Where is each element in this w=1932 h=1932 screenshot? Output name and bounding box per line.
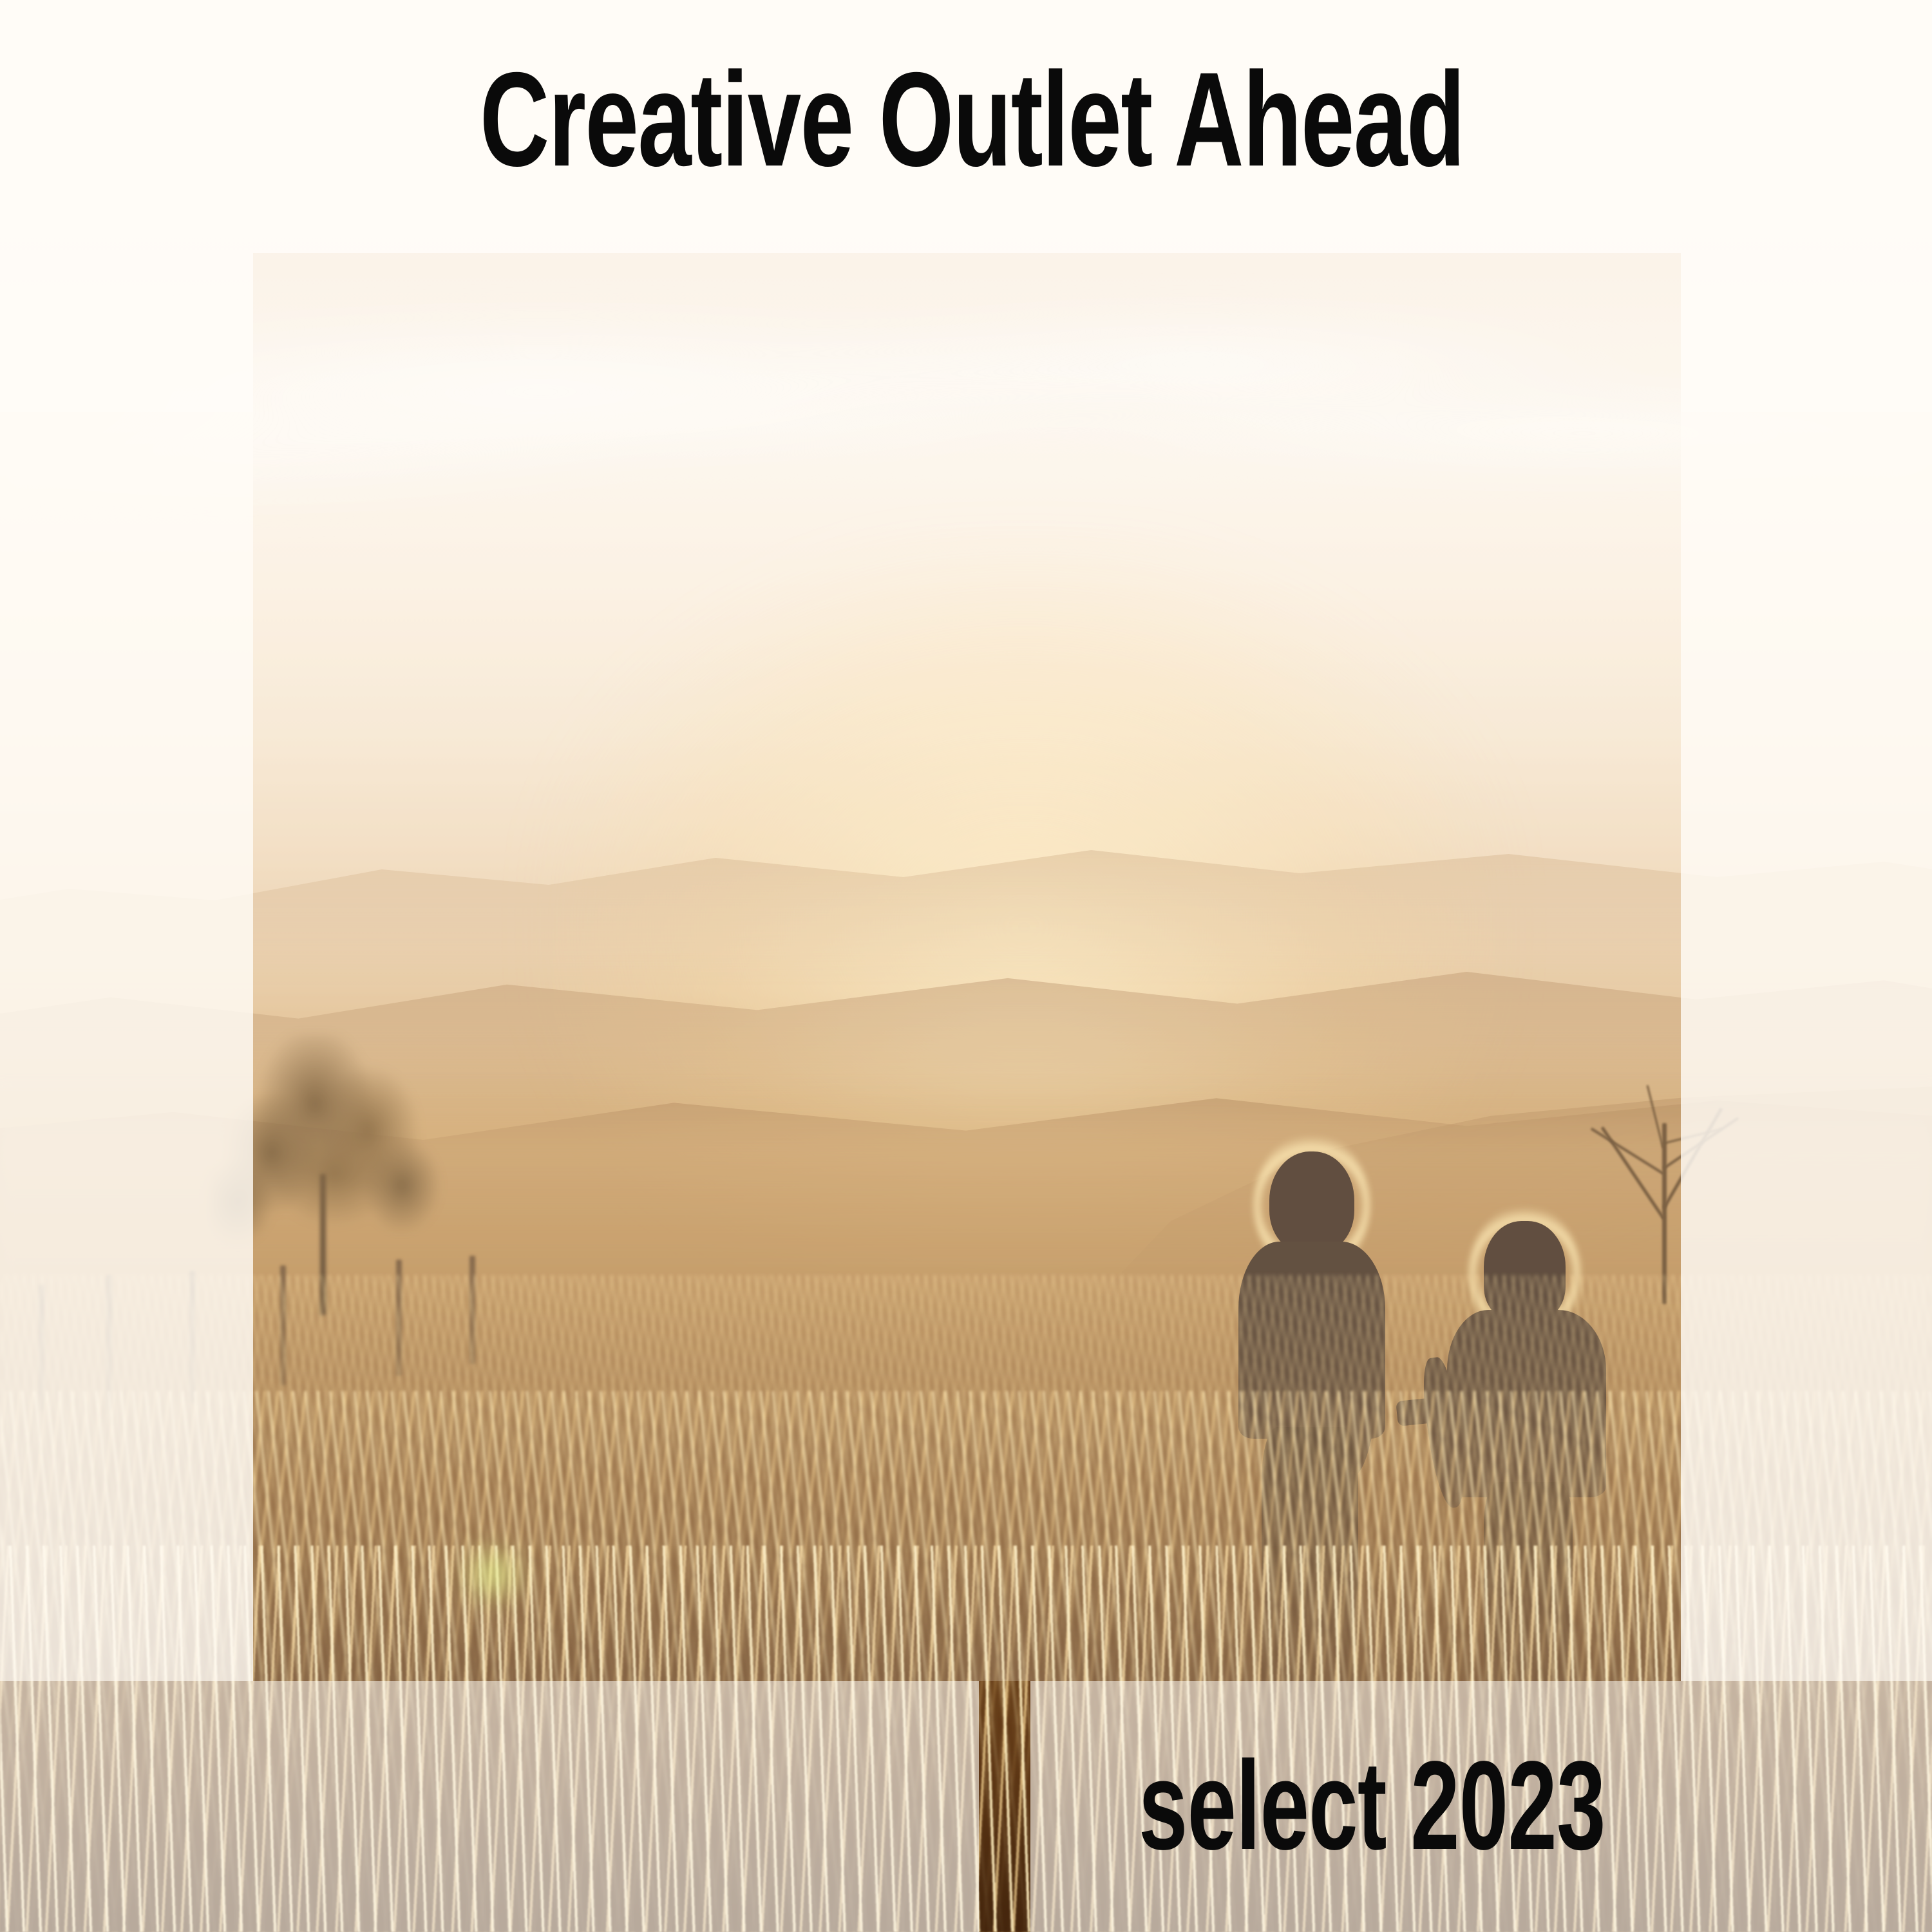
tree-canopy <box>253 1034 450 1304</box>
poster-canvas: Creative Outlet Ahead select 2023 <box>0 0 1932 1932</box>
leafy-tree <box>253 1034 450 1304</box>
page-title: Creative Outlet Ahead <box>480 53 1464 187</box>
footer-label: select 2023 <box>1139 1743 1605 1869</box>
head <box>1269 1151 1354 1253</box>
window-photograph <box>253 253 1681 1681</box>
cloud-streaks <box>253 253 1681 580</box>
overlay-wash-bottom-left <box>0 1681 979 1932</box>
image-window-panel <box>253 253 1681 1681</box>
lens-flare <box>454 1536 531 1613</box>
